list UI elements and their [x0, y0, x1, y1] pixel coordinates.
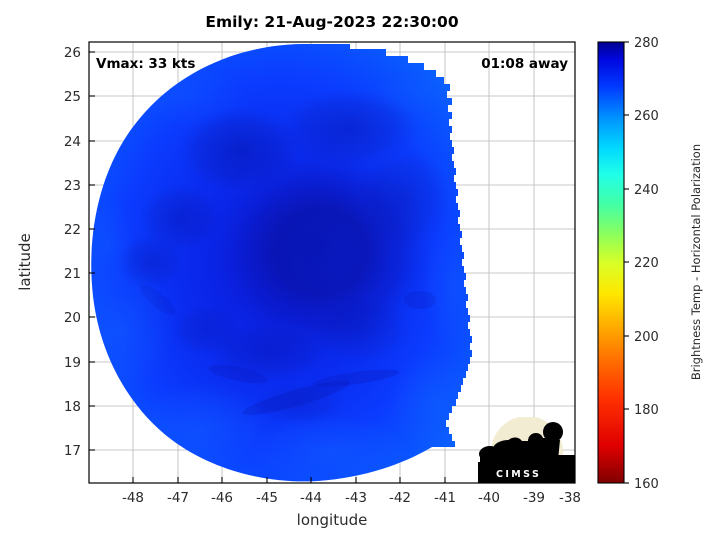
x-tick-label: -41 [434, 490, 456, 506]
x-tick-label: -38 [559, 490, 581, 506]
colorbar-gradient [598, 42, 624, 483]
colorbar-tick-label: 280 [634, 36, 659, 51]
x-tick-label: -45 [256, 490, 278, 506]
logo-dish [479, 446, 501, 462]
colorbar-tick-label: 240 [634, 183, 659, 198]
colorbar-tick-label: 200 [634, 330, 659, 345]
cold-patch [308, 296, 412, 364]
chart-title: Emily: 21-Aug-2023 22:30:00 [205, 13, 458, 31]
y-tick-label: 21 [64, 266, 81, 282]
plot-area: Vmax: 33 kts 01:08 away CIMSS [64, 35, 575, 495]
x-tick-label: -44 [300, 490, 322, 506]
y-tick-label: 17 [64, 443, 81, 459]
x-axis-label: longitude [297, 511, 368, 529]
x-tick-label: -46 [211, 490, 233, 506]
y-tick-label: 20 [64, 310, 81, 326]
time-away-annotation: 01:08 away [481, 56, 568, 72]
x-tick-label: -40 [478, 490, 500, 506]
y-tick-label: 18 [64, 399, 81, 415]
colorbar-tick-label: 260 [634, 109, 659, 124]
y-axis-label: latitude [16, 233, 34, 291]
colorbar-tick-label: 160 [634, 477, 659, 492]
x-tick-label: -42 [389, 490, 411, 506]
cold-patch [170, 304, 242, 356]
figure-root: Emily: 21-Aug-2023 22:30:00 [0, 0, 720, 540]
x-tick-label: -43 [345, 490, 367, 506]
colorbar-tick-label: 220 [634, 256, 659, 271]
x-tick-label: -47 [167, 490, 189, 506]
y-tick-label: 22 [64, 222, 81, 238]
y-tick-label: 25 [64, 89, 81, 105]
y-tick-label: 24 [64, 134, 81, 150]
y-tick-label: 26 [64, 45, 81, 61]
colorbar-tick-label: 180 [634, 403, 659, 418]
y-tick-label: 23 [64, 178, 81, 194]
y-tick-label: 19 [64, 355, 81, 371]
x-tick-label: -39 [523, 490, 545, 506]
vmax-annotation: Vmax: 33 kts [96, 56, 195, 72]
colorbar-label: Brightness Temp - Horizontal Polarizatio… [689, 144, 703, 380]
x-tick-label: -48 [122, 490, 144, 506]
